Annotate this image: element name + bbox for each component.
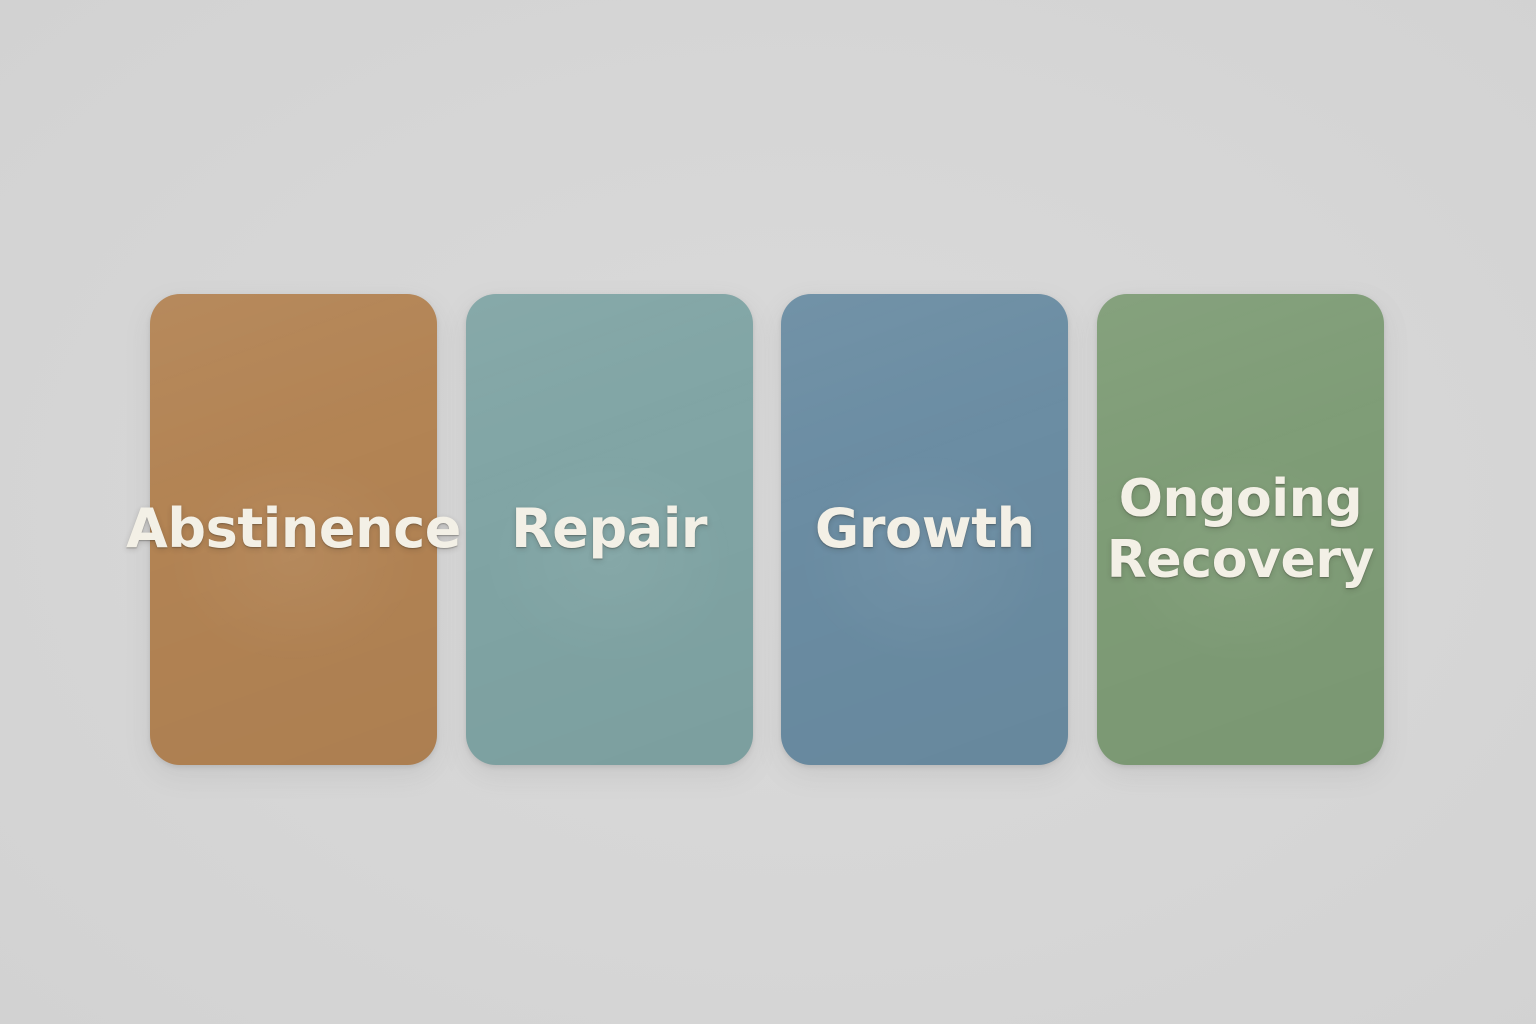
stage-card-abstinence[interactable]: Abstinence — [150, 294, 437, 765]
stage-card-ongoing-recovery[interactable]: Ongoing Recovery — [1097, 294, 1384, 765]
stage-card-label: Repair — [507, 499, 711, 559]
stage-board: Abstinence Repair Growth Ongoing Recover… — [0, 0, 1536, 1024]
stage-card-growth[interactable]: Growth — [781, 294, 1068, 765]
stage-card-label: Abstinence — [122, 499, 465, 559]
stage-card-repair[interactable]: Repair — [466, 294, 753, 765]
stage-card-label: Ongoing Recovery — [1097, 469, 1384, 590]
stage-cards-row: Abstinence Repair Growth Ongoing Recover… — [150, 294, 1384, 765]
stage-card-label: Growth — [811, 499, 1039, 559]
